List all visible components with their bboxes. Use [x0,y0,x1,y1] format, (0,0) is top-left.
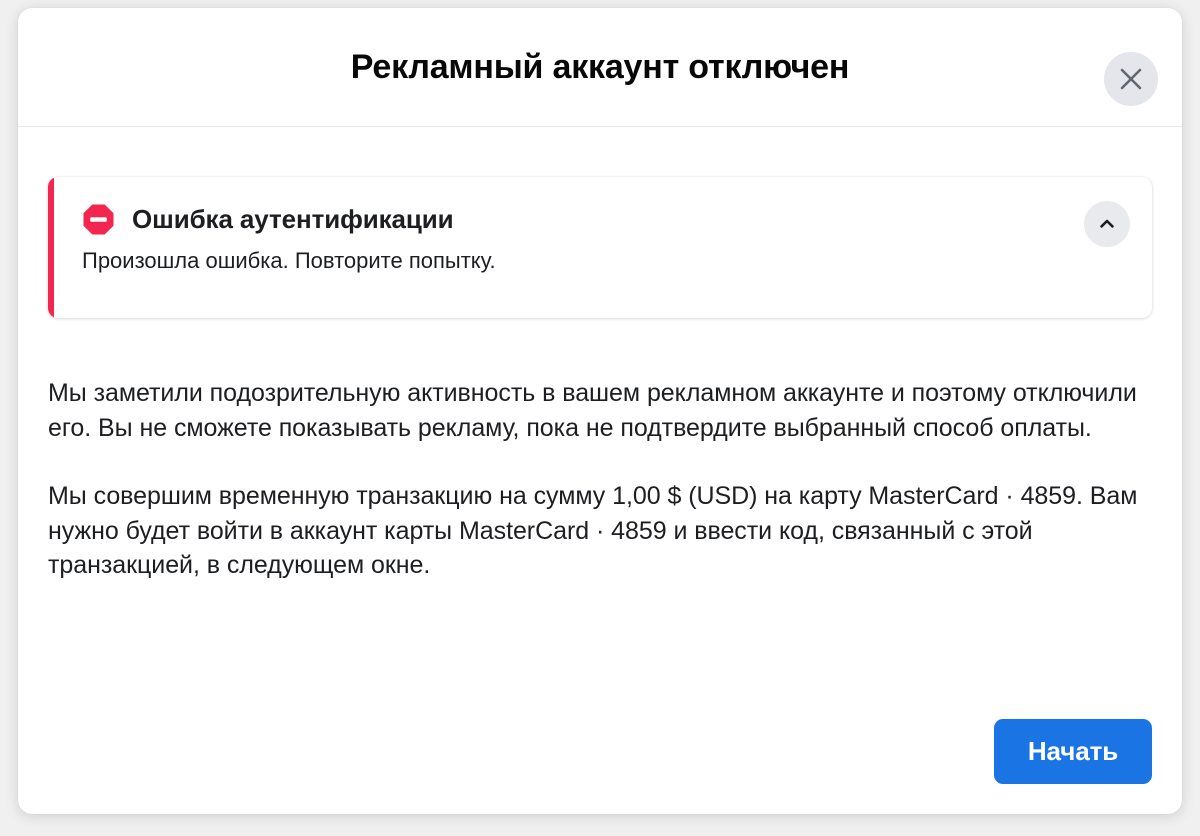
close-button[interactable] [1104,52,1158,106]
dialog-footer: Начать [18,688,1182,814]
alert-message: Произошла ошибка. Повторите попытку. [82,247,1124,276]
chevron-up-icon [1097,214,1117,234]
paragraph-temporary-transaction: Мы совершим временную транзакцию на сумм… [48,479,1152,583]
page-title: Рекламный аккаунт отключен [241,47,959,88]
alert-title: Ошибка аутентификации [132,204,454,235]
alert-header-row: Ошибка аутентификации [82,203,1124,236]
error-stop-icon [82,203,115,236]
dialog-body: Ошибка аутентификации Произошла ошибка. … [18,177,1182,583]
authentication-error-alert: Ошибка аутентификации Произошла ошибка. … [48,177,1152,318]
explanation-text: Мы заметили подозрительную активность в … [48,376,1152,583]
close-icon [1118,66,1144,92]
paragraph-suspicious-activity: Мы заметили подозрительную активность в … [48,376,1152,445]
dialog-header: Рекламный аккаунт отключен [18,8,1182,127]
alert-accent-bar [48,177,54,318]
start-button[interactable]: Начать [994,719,1152,784]
ad-account-disabled-dialog: Рекламный аккаунт отключен Ошибка аутент… [18,8,1182,814]
alert-collapse-button[interactable] [1084,201,1130,247]
